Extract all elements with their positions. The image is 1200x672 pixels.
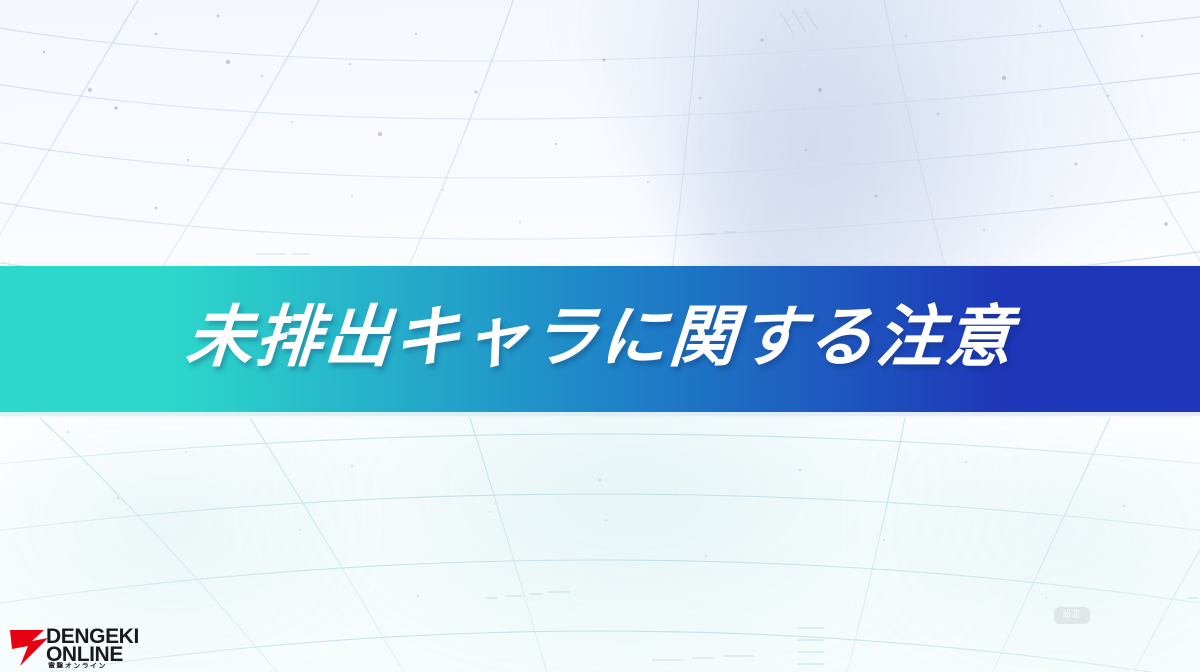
- grid-lower: [0, 418, 1200, 672]
- lightning-bolt-icon: [10, 630, 48, 666]
- page-title: 未排出キャラに関する注意: [184, 304, 1017, 375]
- corner-badge-label: 設定: [1062, 611, 1081, 620]
- banner-underline: [0, 412, 1200, 416]
- dengeki-online-logo-svg: DENGEKI ONLINE 電撃オンライン: [8, 616, 150, 668]
- dengeki-online-logo: DENGEKI ONLINE 電撃オンライン: [8, 616, 150, 668]
- star-points: [43, 15, 1185, 232]
- star-points-lower: [67, 431, 1126, 599]
- grid-upper: [0, 0, 1200, 300]
- logo-subtitle: 電撃オンライン: [48, 661, 107, 668]
- corner-badge[interactable]: 設定: [1054, 607, 1090, 624]
- slide-canvas: 未排出キャラに関する注意 DENGEKI ONLINE 電撃オンライン 設定: [0, 0, 1200, 672]
- title-banner: 未排出キャラに関する注意: [0, 266, 1200, 412]
